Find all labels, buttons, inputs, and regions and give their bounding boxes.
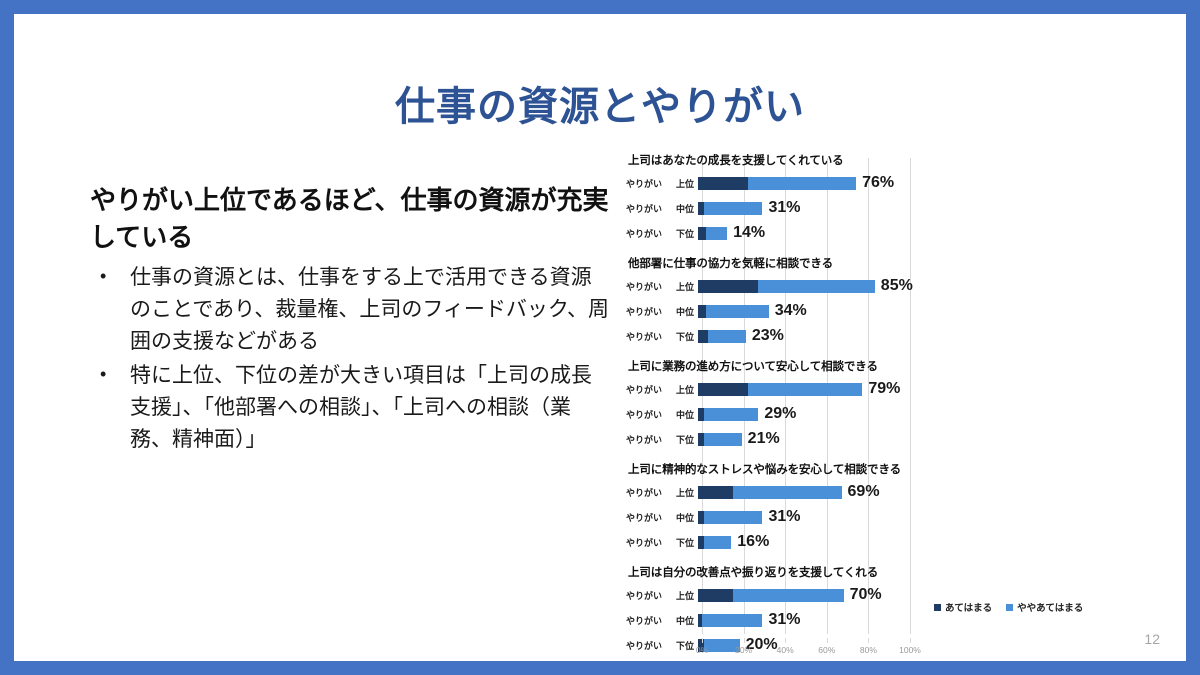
- bar-track: 34%: [698, 305, 906, 318]
- bar-segment-weak: [706, 305, 768, 318]
- chart-group: 上司に業務の進め方について安心して相談できるやりがい上位79%やりがい中位29%…: [626, 358, 966, 449]
- slide-content-area: 仕事の資源とやりがい やりがい上位であるほど、仕事の資源が充実している •仕事の…: [14, 14, 1186, 661]
- bar-value-label: 23%: [746, 327, 784, 345]
- bar-row-label-prefix: やりがい: [626, 639, 662, 652]
- chart-plot: 上司はあなたの成長を支援してくれているやりがい上位76%やりがい中位31%やりが…: [626, 152, 966, 634]
- axis-tick-mark: [744, 638, 745, 643]
- legend-swatch-icon: [934, 604, 941, 611]
- bar-segment-strong: [698, 383, 748, 396]
- legend-swatch-icon: [1006, 604, 1013, 611]
- bar-row-label: やりがい上位: [626, 177, 698, 190]
- axis-tick-label: 0%: [696, 645, 708, 655]
- bar-row-label-prefix: やりがい: [626, 227, 662, 240]
- bar-track: 79%: [698, 383, 906, 396]
- chart-group-title: 上司に精神的なストレスや悩みを安心して相談できる: [628, 461, 966, 477]
- bar-track: 21%: [698, 433, 906, 446]
- legend-label: あてはまる: [945, 600, 992, 614]
- chart-bar-row: やりがい中位29%: [626, 404, 966, 424]
- bar-segment-weak: [748, 383, 862, 396]
- bar-track: 31%: [698, 202, 906, 215]
- bar-row-label-prefix: やりがい: [626, 177, 662, 190]
- bar-row-label: やりがい下位: [626, 639, 698, 652]
- bar-row-label-category: 中位: [676, 408, 694, 421]
- chart-bar-row: やりがい中位31%: [626, 198, 966, 218]
- bar-value-label: 31%: [762, 199, 800, 217]
- chart-bar-row: やりがい中位31%: [626, 610, 966, 630]
- bar-row-label: やりがい中位: [626, 202, 698, 215]
- legend-item: あてはまる: [934, 600, 992, 614]
- axis-tick-label: 60%: [818, 645, 835, 655]
- chart-groups: 上司はあなたの成長を支援してくれているやりがい上位76%やりがい中位31%やりが…: [626, 152, 966, 655]
- chart-bar-row: やりがい上位85%: [626, 276, 966, 296]
- chart-group: 他部署に仕事の協力を気軽に相談できるやりがい上位85%やりがい中位34%やりがい…: [626, 255, 966, 346]
- chart-bar-row: やりがい下位16%: [626, 532, 966, 552]
- bar-value-label: 29%: [758, 405, 796, 423]
- bar-row-label-category: 中位: [676, 614, 694, 627]
- chart-bar-row: やりがい下位14%: [626, 223, 966, 243]
- bar-row-label: やりがい上位: [626, 280, 698, 293]
- axis-tick-mark: [868, 638, 869, 643]
- chart-bar-row: やりがい中位34%: [626, 301, 966, 321]
- bar-segment-weak: [706, 227, 727, 240]
- bar-segment-weak: [733, 589, 843, 602]
- chart-group-title: 他部署に仕事の協力を気軽に相談できる: [628, 255, 966, 271]
- bar-row-label-category: 上位: [676, 177, 694, 190]
- bar-track: 23%: [698, 330, 906, 343]
- bar-segment-weak: [704, 408, 758, 421]
- chart-legend: あてはまるややあてはまる: [934, 600, 1083, 614]
- left-text-column: やりがい上位であるほど、仕事の資源が充実している •仕事の資源とは、仕事をする上…: [90, 182, 610, 459]
- bar-row-label-category: 中位: [676, 305, 694, 318]
- bar-segment-weak: [704, 511, 762, 524]
- bar-row-label-prefix: やりがい: [626, 614, 662, 627]
- page-number: 12: [1144, 631, 1160, 647]
- bar-row-label: やりがい上位: [626, 383, 698, 396]
- bar-row-label-prefix: やりがい: [626, 536, 662, 549]
- bar-segment-strong: [698, 305, 706, 318]
- bar-segment-weak: [708, 330, 745, 343]
- bar-row-label: やりがい下位: [626, 330, 698, 343]
- axis-tick-mark: [702, 638, 703, 643]
- bar-row-label-category: 下位: [676, 330, 694, 343]
- bar-segment-weak: [704, 536, 731, 549]
- bar-row-label-category: 下位: [676, 227, 694, 240]
- bar-track: 76%: [698, 177, 906, 190]
- bar-value-label: 85%: [875, 277, 913, 295]
- bar-segment-strong: [698, 227, 706, 240]
- bar-track: 31%: [698, 614, 906, 627]
- bar-row-label-prefix: やりがい: [626, 433, 662, 446]
- bar-track: 14%: [698, 227, 906, 240]
- bar-row-label-prefix: やりがい: [626, 305, 662, 318]
- bar-segment-strong: [698, 330, 708, 343]
- bar-row-label-category: 上位: [676, 589, 694, 602]
- legend-item: ややあてはまる: [1006, 600, 1083, 614]
- bar-row-label-prefix: やりがい: [626, 330, 662, 343]
- bar-segment-strong: [698, 177, 748, 190]
- bullet-text: 仕事の資源とは、仕事をする上で活用できる資源のことであり、裁量権、上司のフィード…: [130, 266, 609, 353]
- bar-segment-strong: [698, 486, 733, 499]
- bullet-marker-icon: •: [100, 262, 106, 292]
- chart-group: 上司はあなたの成長を支援してくれているやりがい上位76%やりがい中位31%やりが…: [626, 152, 966, 243]
- chart-bar-row: やりがい上位76%: [626, 173, 966, 193]
- bar-row-label-category: 中位: [676, 511, 694, 524]
- bar-row-label-category: 下位: [676, 536, 694, 549]
- bar-track: 16%: [698, 536, 906, 549]
- bar-row-label: やりがい中位: [626, 511, 698, 524]
- bar-row-label: やりがい下位: [626, 536, 698, 549]
- bar-row-label-prefix: やりがい: [626, 280, 662, 293]
- bar-row-label-category: 上位: [676, 486, 694, 499]
- bar-track: 70%: [698, 589, 906, 602]
- bar-segment-weak: [702, 614, 762, 627]
- bar-row-label: やりがい中位: [626, 614, 698, 627]
- bar-track: 29%: [698, 408, 906, 421]
- chart-bar-row: やりがい下位23%: [626, 326, 966, 346]
- bar-row-label-category: 上位: [676, 383, 694, 396]
- chart-group-title: 上司は自分の改善点や振り返りを支援してくれる: [628, 564, 966, 580]
- bar-row-label-prefix: やりがい: [626, 511, 662, 524]
- chart: 上司はあなたの成長を支援してくれているやりがい上位76%やりがい中位31%やりが…: [626, 152, 1146, 662]
- bullet-text: 特に上位、下位の差が大きい項目は「上司の成長支援」、「他部署への相談」、「上司へ…: [130, 364, 592, 451]
- chart-group-title: 上司はあなたの成長を支援してくれている: [628, 152, 966, 168]
- chart-group-title: 上司に業務の進め方について安心して相談できる: [628, 358, 966, 374]
- bar-segment-strong: [698, 589, 733, 602]
- bar-value-label: 76%: [856, 174, 894, 192]
- axis-tick-label: 100%: [899, 645, 921, 655]
- bar-row-label-prefix: やりがい: [626, 383, 662, 396]
- bar-row-label: やりがい中位: [626, 408, 698, 421]
- bar-row-label-prefix: やりがい: [626, 589, 662, 602]
- bar-row-label-category: 中位: [676, 202, 694, 215]
- bar-segment-strong: [698, 280, 758, 293]
- bar-segment-weak: [733, 486, 841, 499]
- axis-tick-mark: [827, 638, 828, 643]
- bar-row-label-category: 下位: [676, 639, 694, 652]
- bar-segment-weak: [748, 177, 856, 190]
- bar-segment-weak: [704, 433, 741, 446]
- bullet-list: •仕事の資源とは、仕事をする上で活用できる資源のことであり、裁量権、上司のフィー…: [90, 262, 610, 457]
- chart-bar-row: やりがい上位70%: [626, 585, 966, 605]
- bar-row-label-prefix: やりがい: [626, 202, 662, 215]
- legend-label: ややあてはまる: [1017, 600, 1083, 614]
- bar-segment-weak: [758, 280, 874, 293]
- bar-value-label: 79%: [862, 380, 900, 398]
- bar-row-label-category: 下位: [676, 433, 694, 446]
- bullet-item: •仕事の資源とは、仕事をする上で活用できる資源のことであり、裁量権、上司のフィー…: [90, 262, 610, 358]
- bar-value-label: 16%: [731, 533, 769, 551]
- bar-track: 69%: [698, 486, 906, 499]
- axis-tick-label: 20%: [735, 645, 752, 655]
- chart-bar-row: やりがい下位21%: [626, 429, 966, 449]
- bar-value-label: 14%: [727, 224, 765, 242]
- bullet-marker-icon: •: [100, 360, 106, 390]
- bar-row-label: やりがい上位: [626, 589, 698, 602]
- axis-tick-label: 40%: [777, 645, 794, 655]
- chart-bar-row: やりがい中位31%: [626, 507, 966, 527]
- bar-track: 85%: [698, 280, 906, 293]
- lead-statement: やりがい上位であるほど、仕事の資源が充実している: [90, 182, 610, 256]
- axis-tick-label: 80%: [860, 645, 877, 655]
- bar-value-label: 21%: [742, 430, 780, 448]
- chart-x-axis: 0%20%40%60%80%100%: [702, 638, 910, 662]
- bullet-item: •特に上位、下位の差が大きい項目は「上司の成長支援」、「他部署への相談」、「上司…: [90, 360, 610, 456]
- bar-row-label-prefix: やりがい: [626, 486, 662, 499]
- bar-track: 31%: [698, 511, 906, 524]
- axis-tick-mark: [910, 638, 911, 643]
- bar-row-label: やりがい上位: [626, 486, 698, 499]
- bar-row-label-prefix: やりがい: [626, 408, 662, 421]
- bar-row-label: やりがい中位: [626, 305, 698, 318]
- bar-row-label-category: 上位: [676, 280, 694, 293]
- bar-row-label: やりがい下位: [626, 433, 698, 446]
- bar-row-label: やりがい下位: [626, 227, 698, 240]
- page-title: 仕事の資源とやりがい: [14, 74, 1186, 132]
- bar-value-label: 70%: [844, 586, 882, 604]
- bar-value-label: 31%: [762, 508, 800, 526]
- slide: 仕事の資源とやりがい やりがい上位であるほど、仕事の資源が充実している •仕事の…: [0, 0, 1200, 675]
- axis-tick-mark: [785, 638, 786, 643]
- chart-bar-row: やりがい上位79%: [626, 379, 966, 399]
- chart-bar-row: やりがい上位69%: [626, 482, 966, 502]
- bar-value-label: 69%: [842, 483, 880, 501]
- bar-segment-weak: [704, 202, 762, 215]
- bar-value-label: 31%: [762, 611, 800, 629]
- chart-group: 上司に精神的なストレスや悩みを安心して相談できるやりがい上位69%やりがい中位3…: [626, 461, 966, 552]
- bar-value-label: 34%: [769, 302, 807, 320]
